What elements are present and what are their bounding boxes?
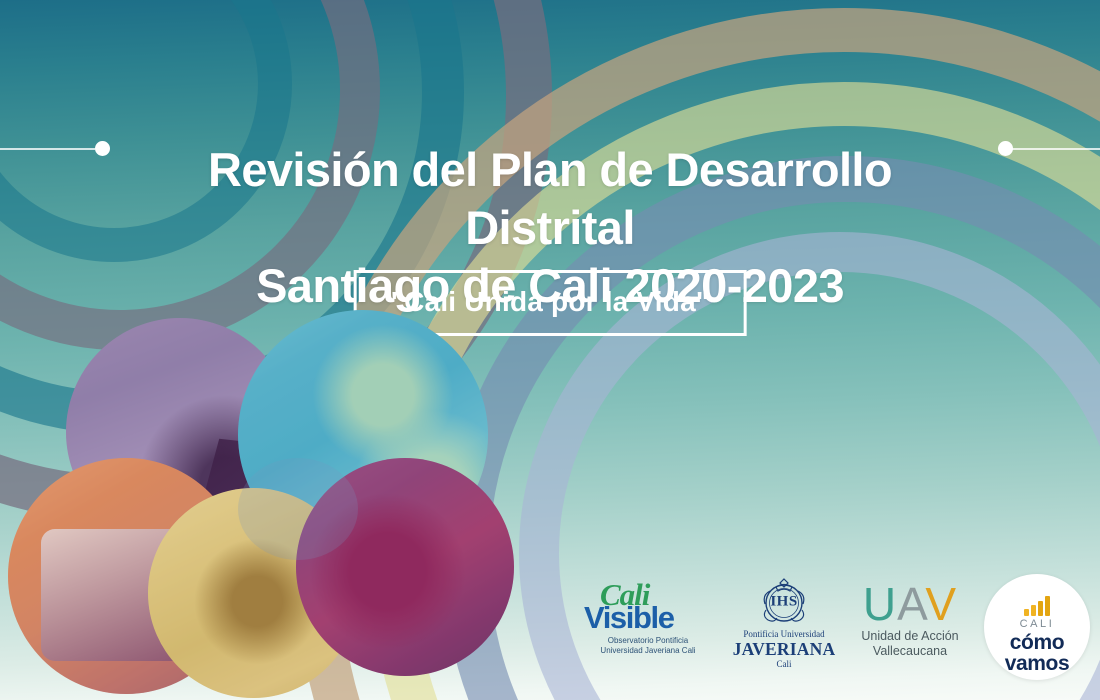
javeriana-line-city: Cali [724,659,844,670]
cali-visible-logo: Cali Visible Observatorio Pontificia Uni… [584,582,712,656]
ccv-word-vamos: vamos [984,653,1090,674]
uav-letter-a: A [897,578,925,630]
javeriana-logo: IHS Pontificia Universidad JAVERIANA Cal… [724,574,844,670]
cali-visible-subtitle-line2: Universidad Javeriana Cali [584,646,712,656]
bar-chart-icon [984,596,1090,616]
uav-name-line1: Unidad de Acción [846,629,974,644]
ccv-word-cali: CALI [984,618,1090,630]
uav-letter-u: U [863,578,897,630]
uav-monogram-icon: UAV [846,580,974,628]
javeriana-crest-icon: IHS [757,574,811,628]
cali-visible-word-visible: Visible [584,602,712,633]
photo-overlap-blend [238,458,358,560]
uav-logo: UAV Unidad de Acción Vallecaucana [846,580,974,659]
logo-strip: Cali Visible Observatorio Pontificia Uni… [584,574,1094,680]
cali-visible-subtitle-line1: Observatorio Pontificia [584,636,712,646]
ccv-word-como: cómo [984,632,1090,653]
uav-name-line2: Vallecaucana [846,644,974,659]
javeriana-ihs-monogram: IHS [770,594,797,611]
photo-collage [0,300,470,700]
presentation-slide: Revisión del Plan de Desarrollo Distrita… [0,0,1100,700]
javeriana-line-name: JAVERIANA [724,640,844,659]
title-line-1: Revisión del Plan de Desarrollo Distrita… [208,143,892,254]
uav-letter-v: V [925,578,957,630]
cali-como-vamos-logo: CALI cómo vamos [984,574,1090,680]
